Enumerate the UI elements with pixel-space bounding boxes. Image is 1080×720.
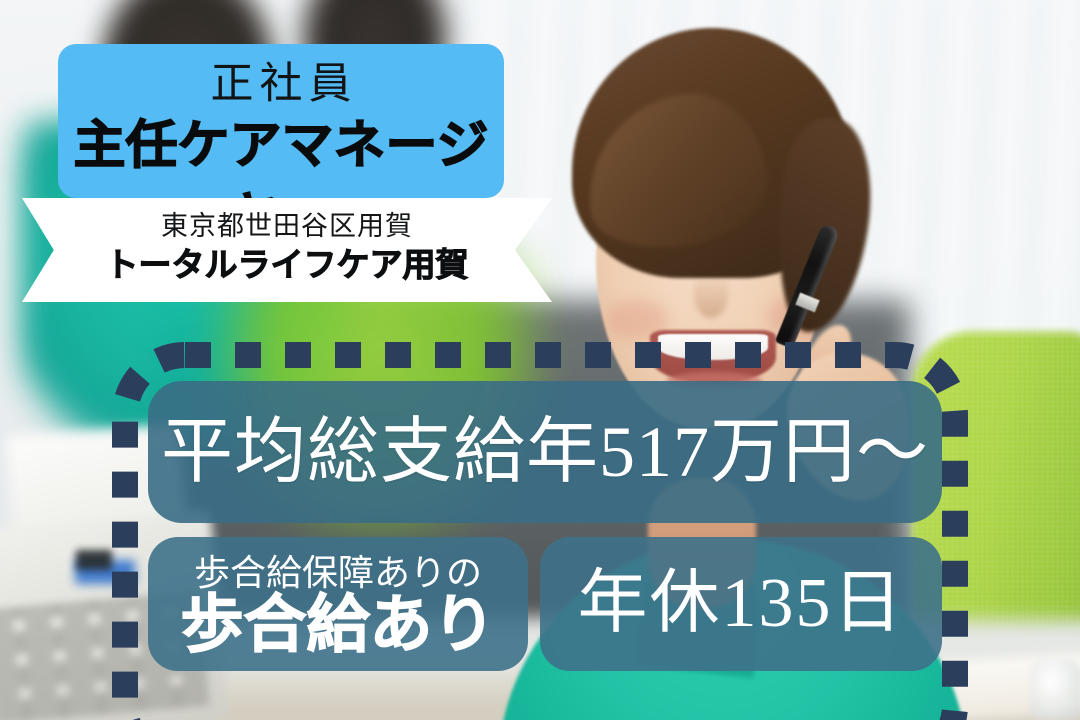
benefit-badge-title: 年休135日 <box>578 565 905 643</box>
benefit-badge-commission-pay: 歩合給保障ありの 歩合給あり <box>148 537 528 671</box>
photo-subject-teeth <box>658 334 768 360</box>
benefit-badge-title: 歩合給あり <box>148 589 528 661</box>
photo-subject-nose <box>694 272 728 318</box>
employment-type-label: 正社員 <box>58 60 504 110</box>
benefit-badge-annual-holidays: 年休135日 <box>540 537 942 671</box>
facility-name-label: トータルライフケア用賀 <box>22 244 552 288</box>
salary-panel: 平均総支給年517万円〜 <box>148 381 942 523</box>
salary-headline: 平均総支給年517万円〜 <box>161 413 929 491</box>
photo-desk-glass-object <box>1030 660 1080 720</box>
job-advert-banner: 正社員 主任ケアマネージャー 東京都世田谷区用賀 トータルライフケア用賀 平均総… <box>0 0 1080 720</box>
photo-desk-dark-item <box>76 550 112 570</box>
facility-ribbon: 東京都世田谷区用賀 トータルライフケア用賀 <box>22 198 552 302</box>
facility-location-label: 東京都世田谷区用賀 <box>22 209 552 243</box>
employment-type-tag: 正社員 主任ケアマネージャー <box>58 44 504 198</box>
